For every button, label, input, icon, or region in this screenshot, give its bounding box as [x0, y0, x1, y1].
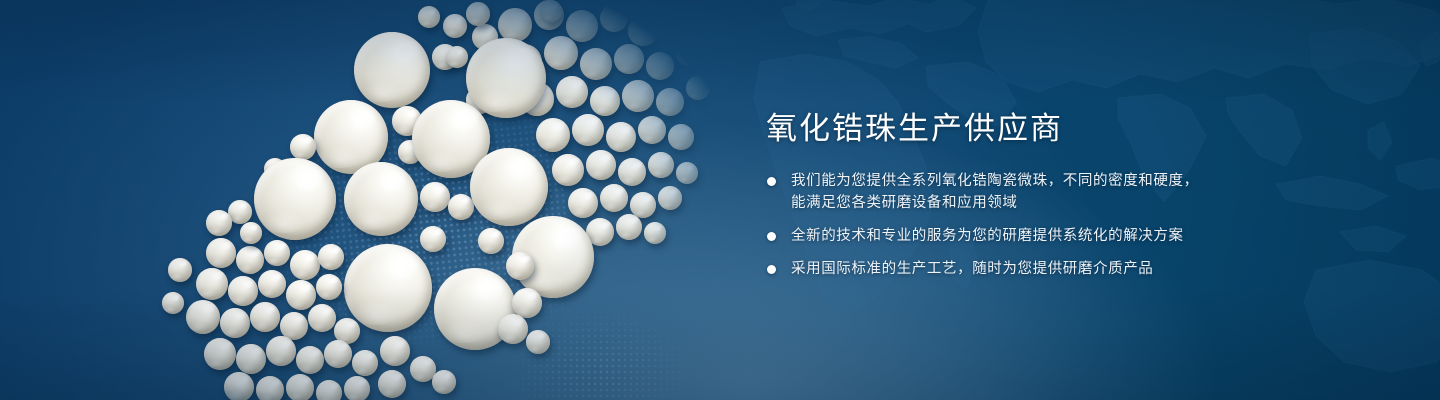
list-item-line: 全新的技术和专业的服务为您的研磨提供系统化的解决方案	[791, 225, 1199, 247]
list-item-line: 我们能为您提供全系列氧化锆陶瓷微珠，不同的密度和硬度，	[791, 170, 1199, 192]
bullet-dot-icon	[767, 265, 776, 274]
bullet-dot-icon	[767, 177, 776, 186]
bullet-dot-icon	[767, 232, 776, 241]
hero-banner: 氧化锆珠生产供应商 我们能为您提供全系列氧化锆陶瓷微珠，不同的密度和硬度， 能满…	[0, 0, 1440, 400]
list-item: 全新的技术和专业的服务为您的研磨提供系统化的解决方案	[767, 225, 1199, 247]
page-title: 氧化锆珠生产供应商	[766, 110, 1063, 149]
list-item-line: 采用国际标准的生产工艺，随时为您提供研磨介质产品	[791, 258, 1199, 280]
list-item: 采用国际标准的生产工艺，随时为您提供研磨介质产品	[767, 258, 1199, 280]
list-item-line: 能满足您各类研磨设备和应用领域	[791, 192, 1199, 214]
feature-list: 我们能为您提供全系列氧化锆陶瓷微珠，不同的密度和硬度， 能满足您各类研磨设备和应…	[767, 170, 1199, 280]
banner-text-content: 氧化锆珠生产供应商 我们能为您提供全系列氧化锆陶瓷微珠，不同的密度和硬度， 能满…	[766, 0, 1386, 400]
list-item: 我们能为您提供全系列氧化锆陶瓷微珠，不同的密度和硬度， 能满足您各类研磨设备和应…	[767, 170, 1199, 214]
